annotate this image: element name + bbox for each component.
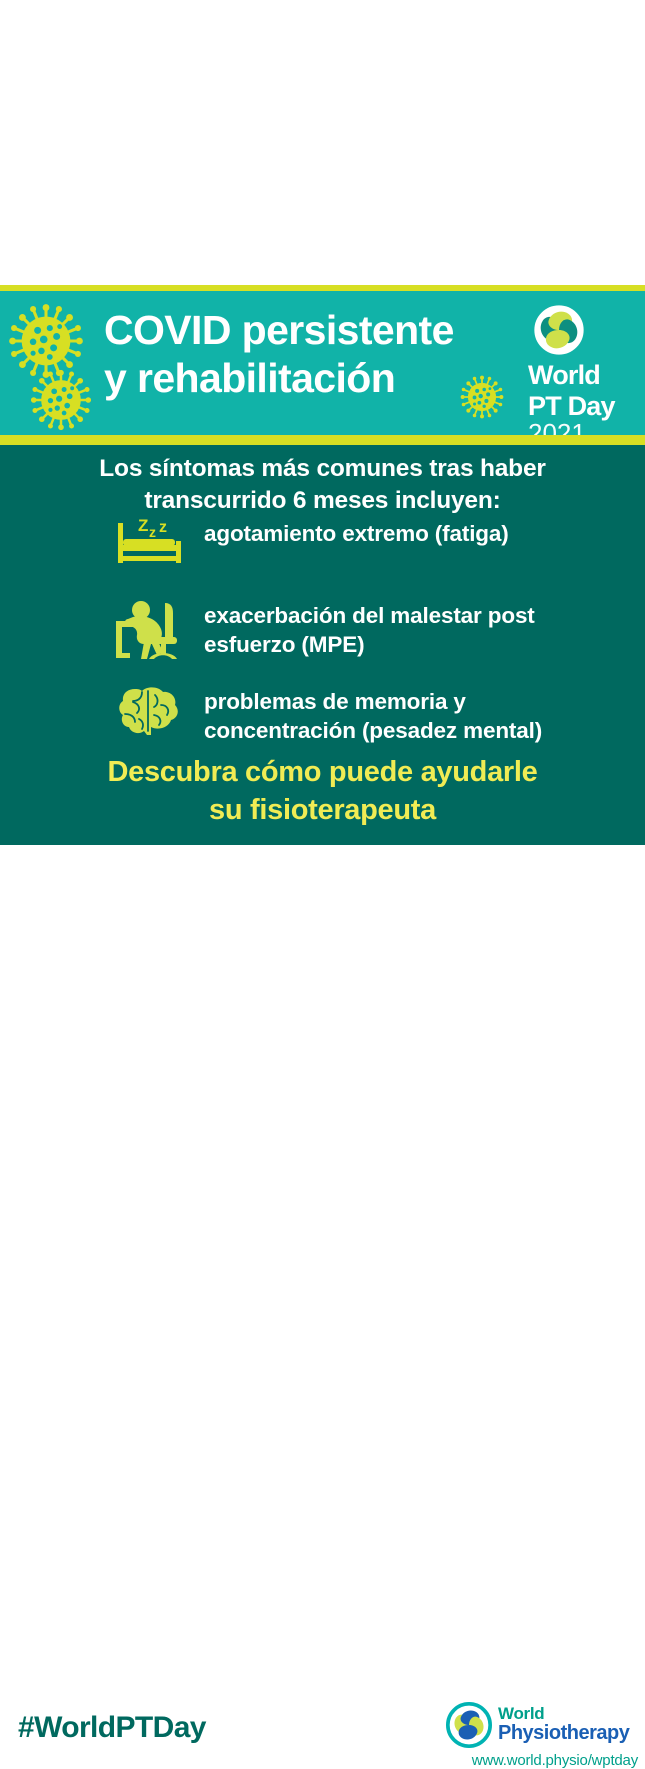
list-item: problemas de memoria y concentración (pe… xyxy=(0,683,645,746)
symptom-icon-slot xyxy=(0,683,204,739)
hashtag-text: #WorldPTDay xyxy=(18,1711,206,1745)
poster-title: COVID persistente y rehabilitación xyxy=(104,307,514,403)
coronavirus-icon xyxy=(8,303,84,379)
title-line-1: COVID persistente xyxy=(104,307,514,355)
coronavirus-icon xyxy=(30,369,92,431)
call-to-action: Descubra cómo puede ayudarle su fisioter… xyxy=(0,753,645,830)
logo-wordmark: World Physiotherapy xyxy=(498,1705,629,1745)
footer: #WorldPTDay World Physiotherapy www.worl… xyxy=(0,845,645,948)
poster-header: COVID persistente y rehabilitación World… xyxy=(0,291,645,435)
symptom-icon-slot: Z z z xyxy=(0,515,204,567)
bed-sleep-icon: Z z z xyxy=(112,515,188,567)
svg-text:Z: Z xyxy=(138,516,148,535)
cta-line-1: Descubra cómo puede ayudarle xyxy=(0,753,645,791)
world-pt-day-logo: World PT Day 2021 xyxy=(528,301,632,435)
symptom-label: agotamiento extremo (fatiga) xyxy=(204,515,509,548)
org-name-line-1: World xyxy=(498,1705,629,1723)
org-name-line-2: Physiotherapy xyxy=(498,1723,629,1745)
poster-panel: COVID persistente y rehabilitación World… xyxy=(0,285,645,845)
world-physiotherapy-emblem-icon xyxy=(446,1702,492,1748)
symptom-icon-slot xyxy=(0,597,204,663)
list-item: Z z z agotamiento extremo (fatiga) xyxy=(0,515,645,577)
wptd-logo-line-1: World xyxy=(528,362,632,390)
list-item: exacerbación del malestar post esfuerzo … xyxy=(0,597,645,663)
brain-icon xyxy=(115,683,185,739)
symptom-label: problemas de memoria y concentración (pe… xyxy=(204,683,594,746)
person-at-desk-icon xyxy=(111,597,189,663)
logo-row: World Physiotherapy xyxy=(446,1702,638,1748)
website-url: www.world.physio/wptday xyxy=(446,1752,638,1769)
intro-line-2: transcurrido 6 meses incluyen: xyxy=(0,485,645,517)
cta-line-2: su fisioterapeuta xyxy=(0,791,645,829)
world-physiotherapy-logo: World Physiotherapy www.world.physio/wpt… xyxy=(446,1702,638,1769)
wptd-logo-line-2: PT Day xyxy=(528,393,632,421)
symptom-label: exacerbación del malestar post esfuerzo … xyxy=(204,597,594,660)
wptd-logo-year: 2021 xyxy=(528,420,632,435)
title-line-2: y rehabilitación xyxy=(104,355,514,403)
svg-text:z: z xyxy=(149,524,156,540)
symptom-list: Z z z agotamiento extremo (fatiga) xyxy=(0,515,645,746)
header-divider-rule xyxy=(0,435,645,445)
intro-line-1: Los síntomas más comunes tras haber xyxy=(0,453,645,485)
world-pt-day-emblem-icon xyxy=(530,301,588,359)
svg-text:z: z xyxy=(159,519,167,536)
intro-text: Los síntomas más comunes tras haber tran… xyxy=(0,453,645,517)
